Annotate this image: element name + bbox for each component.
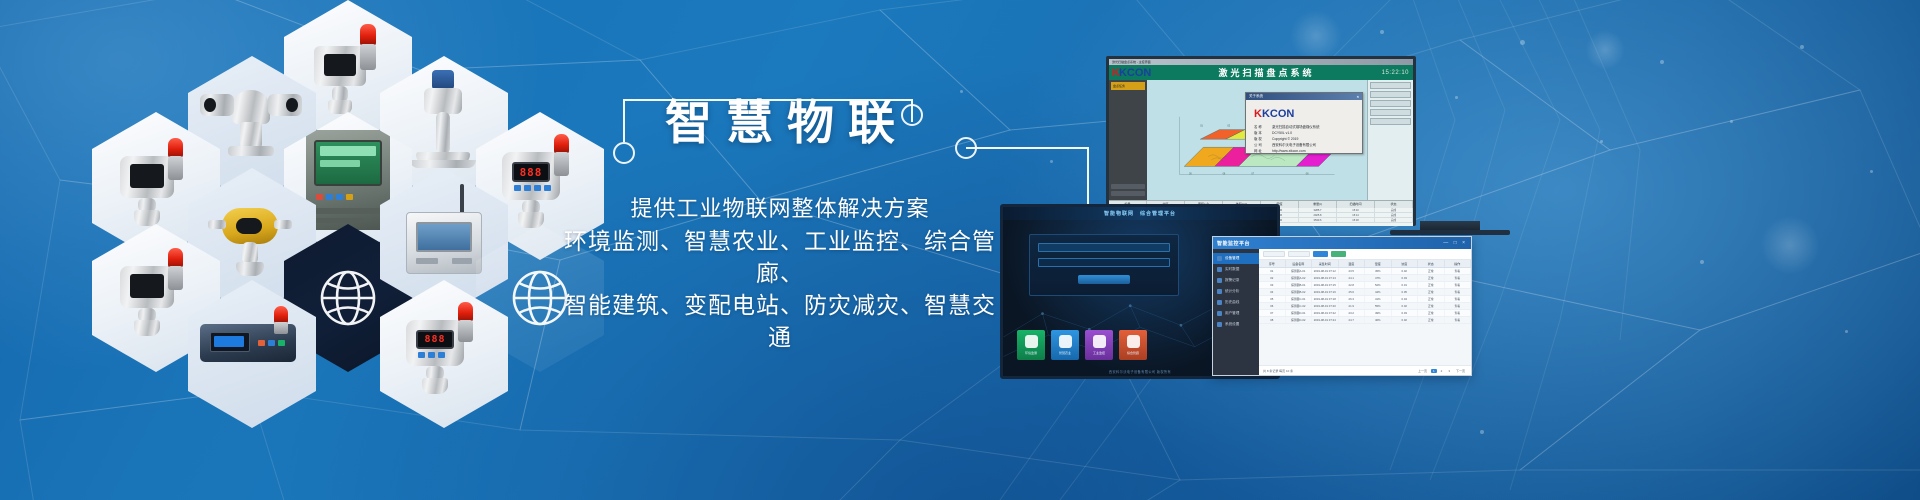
grid-header-row: 序号 设备名称 采集时间 温度 湿度 浓度 状态 操作 [1259,260,1471,268]
grid-header-cell: 状态 [1418,260,1445,267]
logo-text: KCON [1119,67,1151,79]
password-field[interactable] [1038,258,1170,267]
tile-environment-monitoring[interactable]: 环境监测 [1017,330,1045,360]
tile-label: 环境监测 [1025,351,1037,355]
chart-icon [1217,267,1222,272]
table-header-cell: 状态 [1375,201,1413,208]
grid-row[interactable]: 05探测器C-012019-08-01 07:1826.341%0.04正常查看 [1259,296,1471,303]
monitor-stand [1420,221,1480,230]
logo-mark: K [1254,108,1262,120]
sidebar-item-user-management[interactable]: 用户管理 [1213,308,1259,319]
grid-row[interactable]: 04探测器B-022019-08-01 07:1625.644%0.05正常查看 [1259,289,1471,296]
leaf-icon [1025,335,1038,348]
monitor-screen: 激光扫描盘点系统 - 主控界面 K KCON 激光扫描盘点系统 15:22:10… [1109,59,1413,226]
grid-row[interactable]: 07探测器D-012019-08-01 07:2223.249%0.03正常查看 [1259,310,1471,317]
right-panel-chip[interactable] [1370,91,1411,98]
sidebar-tab-label: 盘点任务 [1111,84,1125,88]
device-showcase: 激光扫描盘点系统 - 主控界面 K KCON 激光扫描盘点系统 15:22:10… [1000,48,1900,438]
sidebar-item-realtime-data[interactable]: 实时数据 [1213,264,1259,275]
page-1[interactable]: 1 [1431,369,1437,373]
tunnel-icon [1127,335,1140,348]
right-panel-chip[interactable] [1370,100,1411,107]
tile-utility-tunnel[interactable]: 综合管廊 [1119,330,1147,360]
grid-header-cell: 浓度 [1392,260,1419,267]
about-info-rows: 名 称激光扫描自动式煤场盘煤仪系统 版 本DCY50L v1.0 版 权Copy… [1246,124,1362,154]
smart-iot-banner: 888 [0,0,1920,500]
page-3[interactable]: 3 [1446,369,1452,373]
app-header: K KCON 激光扫描盘点系统 15:22:10 [1109,65,1413,80]
search-button[interactable] [1313,251,1328,257]
kkcon-logo: K KCON [1109,67,1151,79]
grid-row[interactable]: 01探测器A-012019-08-01 07:1223.545%0.02正常查看 [1259,268,1471,275]
connector-node-top [901,104,923,126]
right-panel [1367,80,1413,200]
page-next[interactable]: 下一页 [1454,369,1467,373]
window-controls[interactable]: — □ × [1443,240,1467,246]
tile-industrial-monitoring[interactable]: 工业监控 [1085,330,1113,360]
window-title-bar: 智能监控平台 — □ × [1213,237,1471,249]
tile-label: 工业监控 [1093,351,1105,355]
logo-mark: K [1112,67,1119,79]
sidebar-footer [1109,182,1147,200]
sidebar-item-statistics[interactable]: 统计分析 [1213,286,1259,297]
device-icon [1217,256,1222,261]
app-body: 盘点任务 [1109,80,1413,200]
grid-header-cell: 设备名称 [1286,260,1313,267]
tile-label: 综合管廊 [1127,351,1139,355]
logo-text: KCON [1262,108,1294,120]
export-button[interactable] [1331,251,1346,257]
window-title: 智能监控平台 [1217,240,1250,247]
window-caption-text: 激光扫描盘点系统 - 主控界面 [1109,60,1151,64]
grid-header-cell: 湿度 [1365,260,1392,267]
svg-text:02: 02 [1227,124,1230,127]
tile-label: 智慧农业 [1059,351,1071,355]
module-tiles: 环境监测 智慧农业 工业监控 综合管廊 [1017,330,1147,360]
about-logo: KKCON [1246,100,1362,124]
grid-header-cell: 温度 [1339,260,1366,267]
right-panel-chip[interactable] [1370,118,1411,125]
water-icon [1059,335,1072,348]
close-icon[interactable]: × [1357,94,1362,99]
page-2[interactable]: 2 [1439,369,1445,373]
sidebar-item-device-management[interactable]: 设备管理 [1213,253,1259,264]
grid-header-cell: 序号 [1259,260,1286,267]
svg-text:06: 06 [1223,172,1226,175]
sidebar-item-settings[interactable]: 系统设置 [1213,319,1259,330]
grid-row[interactable]: 06探测器C-022019-08-01 07:2021.955%0.02正常查看 [1259,303,1471,310]
window-body: 设备管理 实时数据 报警记录 统计分析 历史曲线 用户管理 系统设置 [1213,249,1471,375]
connector-node-right [955,137,977,159]
grid-header-cell: 操作 [1445,260,1472,267]
login-panel[interactable] [1029,234,1179,296]
status-text: 共 8 条记录 每页 10 条 [1259,369,1295,373]
data-grid[interactable]: 序号 设备名称 采集时间 温度 湿度 浓度 状态 操作 01探测器A-01201… [1259,260,1471,365]
username-field[interactable] [1038,243,1170,252]
svg-text:07: 07 [1251,172,1254,175]
tile-smart-agriculture[interactable]: 智慧农业 [1051,330,1079,360]
right-panel-chip[interactable] [1370,109,1411,116]
gauge-icon [1093,335,1106,348]
gear-icon [1217,322,1222,327]
sidebar-tab-task[interactable]: 盘点任务 [1111,82,1145,90]
grid-row[interactable]: 02探测器A-022019-08-01 07:1324.147%0.03正常查看 [1259,275,1471,282]
about-row: 网 址http://www.xikcon.com [1254,148,1354,154]
sidebar-footer-item[interactable] [1111,184,1145,189]
table-header-cell: 扫描时间 [1337,201,1375,208]
sidebar-item-alarm-log[interactable]: 报警记录 [1213,275,1259,286]
page-prev[interactable]: 上一页 [1416,369,1429,373]
about-title-bar: 关于系统 × [1246,93,1362,100]
window-main: 序号 设备名称 采集时间 温度 湿度 浓度 状态 操作 01探测器A-01201… [1259,249,1471,375]
pagination: 共 8 条记录 每页 10 条 上一页 1 2 3 下一页 [1259,365,1471,375]
data-management-window[interactable]: 智能监控平台 — □ × 设备管理 实时数据 报警记录 统计分析 历史曲线 用户… [1212,236,1472,376]
grid-row[interactable]: 08探测器D-022019-08-01 07:2424.746%0.02正常查看 [1259,317,1471,324]
toolbar [1259,249,1471,260]
svg-text:01: 01 [1200,124,1203,127]
connector-node-left [613,142,635,164]
sidebar-footer-item[interactable] [1111,191,1145,196]
grid-header-cell: 采集时间 [1312,260,1339,267]
right-panel-chip[interactable] [1370,82,1411,89]
laptop-header-item: 智能物联网 [1104,210,1134,217]
about-dialog[interactable]: 关于系统 × KKCON 名 称激光扫描自动式煤场盘煤仪系统 版 本DCY50L… [1245,92,1363,154]
svg-text:05: 05 [1189,172,1192,175]
app-sidebar: 盘点任务 [1109,80,1147,200]
sidebar-item-history-curve[interactable]: 历史曲线 [1213,297,1259,308]
about-caption: 关于系统 [1246,94,1263,99]
scan-canvas[interactable]: 0102 0304 0506 0708 关于系统 × [1147,80,1367,200]
app-title: 激光扫描盘点系统 [1151,66,1381,79]
bell-icon [1217,278,1222,283]
monitor-base [1390,230,1510,235]
table-header-cell: 重量(t) [1299,201,1337,208]
clock-display: 15:22:10 [1382,70,1413,76]
login-button[interactable] [1078,275,1130,284]
grid-row[interactable]: 03探测器B-012019-08-01 07:1522.852%0.01正常查看 [1259,282,1471,289]
window-sidebar: 设备管理 实时数据 报警记录 统计分析 历史曲线 用户管理 系统设置 [1213,249,1259,375]
laptop-header-item: 综合管理平台 [1140,210,1176,217]
monitor-laser-scan-system[interactable]: 激光扫描盘点系统 - 主控界面 K KCON 激光扫描盘点系统 15:22:10… [1106,56,1416,226]
pie-icon [1217,289,1222,294]
line-icon [1217,300,1222,305]
svg-text:08: 08 [1306,172,1309,175]
filter-input[interactable] [1288,251,1310,257]
user-icon [1217,311,1222,316]
laptop-header: 智能物联网 综合管理平台 [1003,207,1277,220]
search-input[interactable] [1263,251,1285,257]
